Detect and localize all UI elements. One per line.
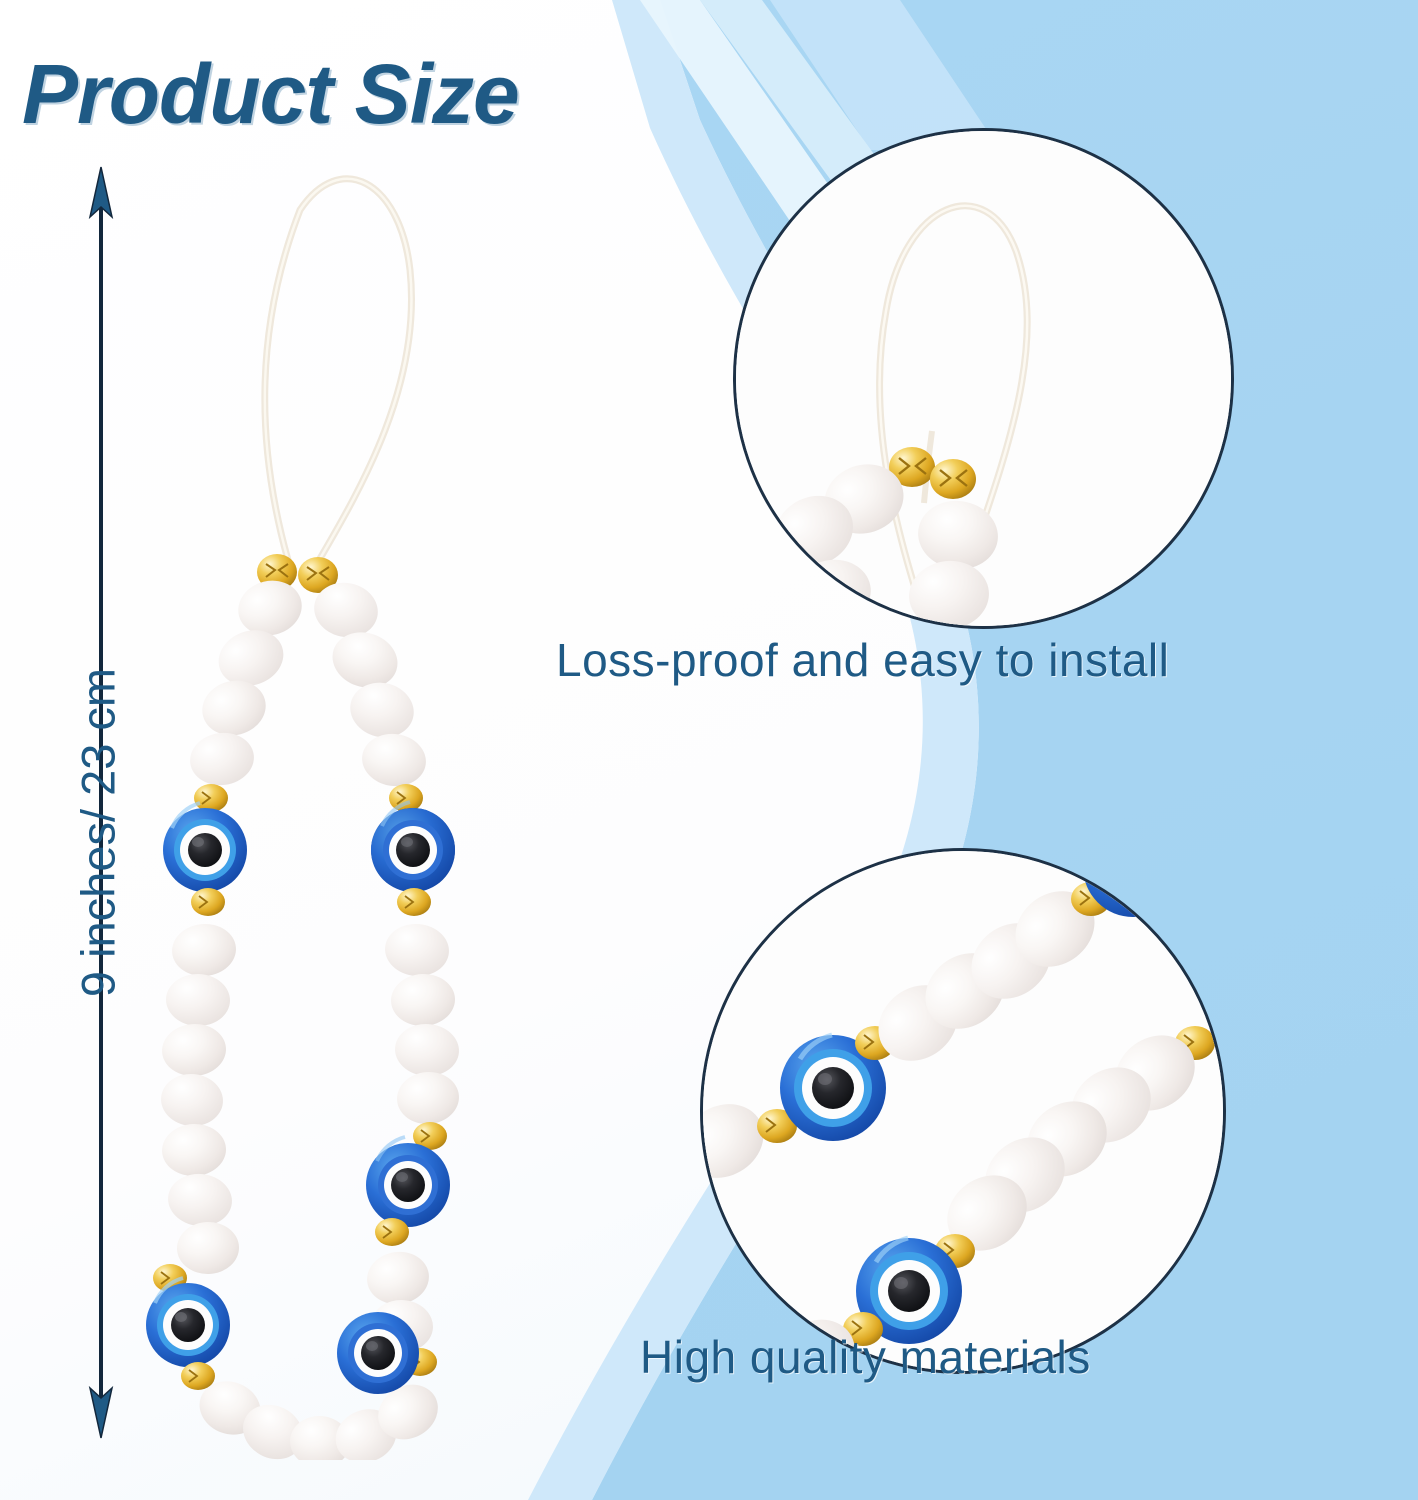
product-illustration-main (110, 160, 530, 1460)
evil-eye-bead-left-1 (163, 803, 247, 892)
pearl-strand-left-mid (159, 921, 240, 1275)
elastic-cord-loop (265, 179, 412, 562)
evil-eye-bead-right-3 (337, 1312, 419, 1394)
pearl-strand-left (187, 574, 308, 789)
callout-caption-loss-proof: Loss-proof and easy to install (556, 633, 1169, 687)
callout-beads-artwork (703, 851, 1223, 1371)
gold-spacer-left-1 (194, 784, 228, 812)
gold-spacer-left-2 (191, 888, 225, 916)
callout-beads-closeup (700, 848, 1226, 1374)
pearl-strand-right-mid (383, 921, 461, 1126)
gold-spacer-left-4 (181, 1362, 215, 1390)
pearl-strand-bottom (192, 1373, 448, 1460)
evil-eye-bead-right-1 (371, 802, 455, 892)
page-title: Product Size (22, 46, 519, 143)
gold-spacer-right-4 (375, 1218, 409, 1246)
callout-caption-high-quality: High quality materials (640, 1330, 1091, 1384)
evil-eye-bead-left-2 (146, 1278, 230, 1367)
evil-eye-bead-right-2 (366, 1137, 450, 1227)
callout-loop-closeup (733, 128, 1234, 629)
pearl-strand-right (309, 577, 429, 790)
callout-loop-artwork (736, 131, 1231, 626)
infographic-canvas: Product Size 9 inches/ 23 cm (0, 0, 1418, 1500)
gold-spacer-right-2 (397, 888, 431, 916)
